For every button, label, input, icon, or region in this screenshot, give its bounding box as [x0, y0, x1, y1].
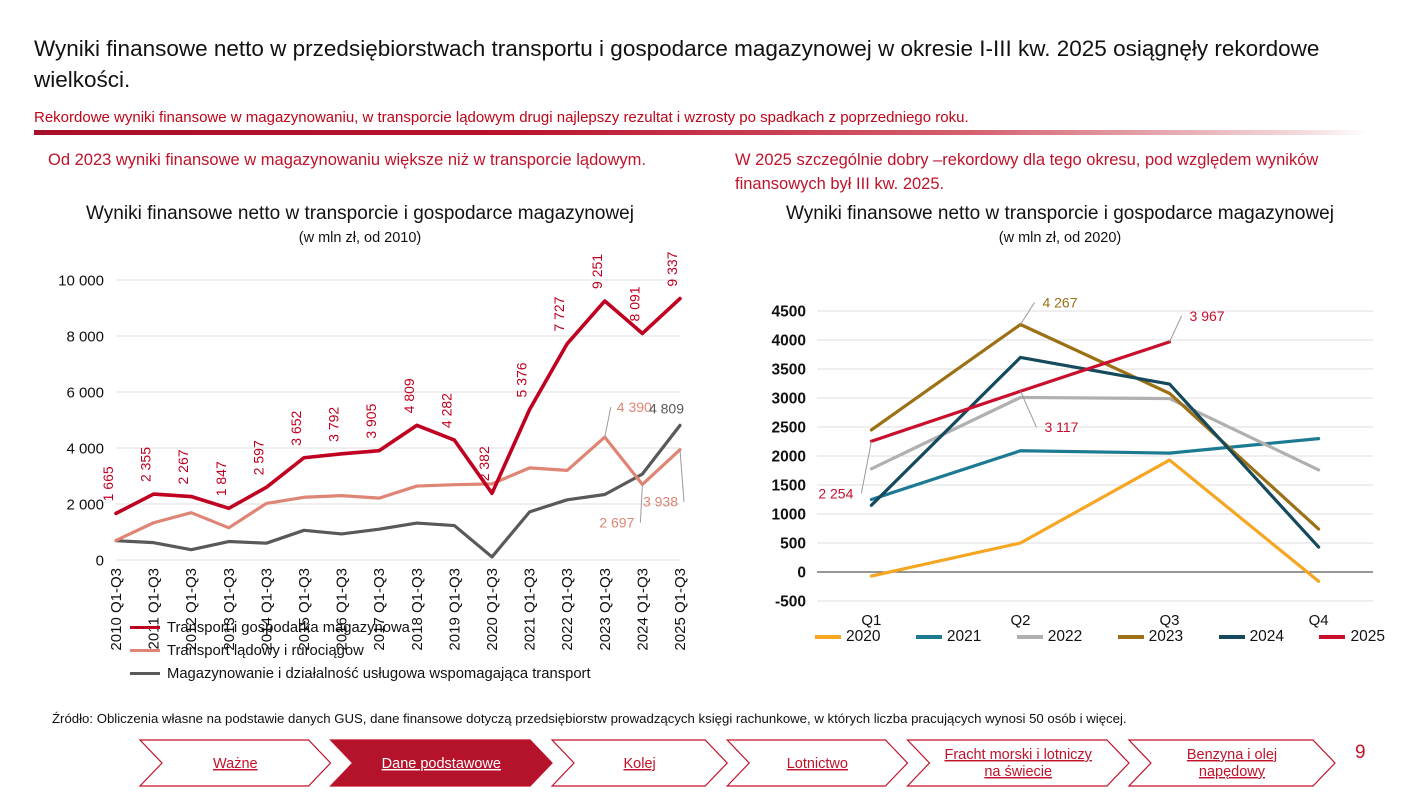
- x-axis-tick-label: Q1: [861, 612, 881, 629]
- legend-swatch: [1118, 635, 1144, 639]
- legend-label: 2023: [1149, 628, 1183, 646]
- chevron-label[interactable]: Lotnictwo: [787, 756, 848, 772]
- right-chart-title-main: Wyniki finansowe netto w transporcie i g…: [786, 203, 1334, 224]
- data-label: 3 792: [326, 407, 342, 442]
- y-axis-tick-label: 8 000: [66, 329, 104, 346]
- legend-label: 2020: [846, 628, 880, 646]
- y-axis-tick-label: 3500: [772, 362, 806, 379]
- source-note: Źródło: Obliczenia własne na podstawie d…: [52, 711, 1392, 726]
- legend-item: 2021: [916, 628, 981, 646]
- legend-item: Transport i gospodarka magazynowa: [130, 616, 591, 639]
- data-label-leader: [605, 407, 611, 437]
- x-axis-tick-label: 2023 Q1-Q3: [597, 568, 614, 651]
- series-line: [871, 397, 1318, 470]
- legend-item: 2020: [815, 628, 880, 646]
- legend-swatch: [130, 672, 160, 675]
- legend-label: Magazynowanie i działalność usługowa wsp…: [167, 666, 591, 682]
- y-axis-tick-label: 0: [96, 553, 104, 570]
- y-axis-tick-label: 3000: [772, 391, 806, 408]
- x-axis-tick-label: Q4: [1309, 612, 1329, 629]
- x-axis-tick-label: Q3: [1160, 612, 1180, 629]
- data-label: 4 809: [649, 400, 684, 416]
- y-axis-tick-label: 4000: [772, 333, 806, 350]
- series-line: [116, 299, 680, 514]
- page-number: 9: [1355, 742, 1366, 764]
- data-label: 3 938: [643, 494, 678, 510]
- y-axis-tick-label: 4 000: [66, 441, 104, 458]
- data-label: 1 665: [100, 466, 116, 501]
- data-label: 2 697: [599, 514, 634, 530]
- legend-label: 2022: [1048, 628, 1082, 646]
- legend-item: 2024: [1219, 628, 1284, 646]
- legend-label: Transport lądowy i rurociągow: [167, 643, 364, 659]
- kicker-text: Rekordowe wyniki finansowe w magazynowan…: [34, 108, 1364, 128]
- y-axis-tick-label: 10 000: [58, 273, 104, 290]
- data-label: 5 376: [514, 362, 530, 397]
- legend-label: Transport i gospodarka magazynowa: [167, 620, 410, 636]
- legend-swatch: [1017, 635, 1043, 639]
- y-axis-tick-label: 4500: [772, 304, 806, 321]
- data-label-leader: [1020, 303, 1034, 325]
- data-label-leader: [680, 450, 684, 502]
- right-chart-legend: 202020212022202320242025: [815, 628, 1385, 646]
- data-label: 4 282: [438, 393, 454, 428]
- legend-swatch: [1219, 635, 1245, 639]
- data-label: 8 091: [626, 286, 642, 321]
- right-line-chart: -500050010001500200025003000350040004500…: [745, 295, 1385, 645]
- legend-item: 2023: [1118, 628, 1183, 646]
- data-label: 7 727: [551, 296, 567, 331]
- legend-item: 2025: [1319, 628, 1384, 646]
- legend-item: 2022: [1017, 628, 1082, 646]
- y-axis-tick-label: 2 000: [66, 497, 104, 514]
- data-label: 3 117: [1044, 419, 1078, 435]
- data-label: 3 905: [363, 403, 379, 438]
- x-axis-tick-label: Q2: [1010, 612, 1030, 629]
- left-chart-subtitle: (w mln zł, od 2010): [60, 227, 660, 249]
- y-axis-tick-label: -500: [775, 594, 806, 611]
- left-chart-title-main: Wyniki finansowe netto w transporcie i g…: [86, 203, 634, 224]
- page-title: Wyniki finansowe netto w przedsiębiorstw…: [34, 33, 1374, 95]
- y-axis-tick-label: 1500: [772, 478, 806, 495]
- kicker-divider: [34, 130, 1369, 135]
- legend-swatch: [815, 635, 841, 639]
- data-label: 9 337: [664, 251, 680, 286]
- slide: Wyniki finansowe netto w przedsiębiorstw…: [0, 0, 1409, 793]
- right-chart-title: Wyniki finansowe netto w transporcie i g…: [760, 200, 1360, 249]
- legend-label: 2025: [1350, 628, 1384, 646]
- data-label: 2 597: [250, 440, 266, 475]
- data-label: 9 251: [589, 254, 605, 289]
- data-label: 4 809: [401, 378, 417, 413]
- data-label: 4 390: [617, 399, 652, 415]
- left-chart-legend: Transport i gospodarka magazynowaTranspo…: [130, 616, 591, 685]
- x-axis-tick-label: 2024 Q1-Q3: [634, 568, 651, 651]
- left-chart-title: Wyniki finansowe netto w transporcie i g…: [60, 200, 660, 249]
- chevron-label[interactable]: Fracht morski i lotniczy: [944, 747, 1092, 763]
- chevron-label[interactable]: Kolej: [624, 756, 656, 772]
- legend-swatch: [1319, 635, 1345, 639]
- x-axis-tick-label: 2010 Q1-Q3: [108, 568, 125, 651]
- data-label: 2 382: [476, 446, 492, 481]
- chevron-label[interactable]: napędowy: [1199, 764, 1266, 780]
- data-label: 4 267: [1042, 295, 1077, 311]
- data-label: 2 267: [175, 449, 191, 484]
- data-label: 3 967: [1190, 308, 1225, 324]
- right-chart-subtitle: (w mln zł, od 2020): [760, 227, 1360, 249]
- y-axis-tick-label: 2000: [772, 449, 806, 466]
- y-axis-tick-label: 500: [780, 536, 806, 553]
- chevron-label[interactable]: na świecie: [984, 764, 1052, 780]
- y-axis-tick-label: 2500: [772, 420, 806, 437]
- legend-swatch: [916, 635, 942, 639]
- data-label: 2 254: [818, 485, 853, 501]
- section-chevron-nav[interactable]: WażneDane podstawoweKolejLotnictwoFracht…: [140, 740, 1335, 786]
- data-label: 2 355: [138, 447, 154, 482]
- legend-swatch: [130, 649, 160, 652]
- chevron-label[interactable]: Dane podstawowe: [382, 756, 501, 772]
- legend-item: Magazynowanie i działalność usługowa wsp…: [130, 662, 591, 685]
- x-axis-tick-label: 2025 Q1-Q3: [672, 568, 689, 651]
- data-label: 1 847: [213, 461, 229, 496]
- left-panel-lead: Od 2023 wyniki finansowe w magazynowaniu…: [48, 148, 688, 172]
- data-label: 3 652: [288, 410, 304, 445]
- legend-label: 2021: [947, 628, 981, 646]
- chevron-label[interactable]: Ważne: [213, 756, 258, 772]
- y-axis-tick-label: 6 000: [66, 385, 104, 402]
- legend-item: Transport lądowy i rurociągow: [130, 639, 591, 662]
- y-axis-tick-label: 1000: [772, 507, 806, 524]
- right-panel-lead: W 2025 szczególnie dobry –rekordowy dla …: [735, 148, 1355, 196]
- legend-swatch: [130, 626, 160, 629]
- y-axis-tick-label: 0: [797, 565, 806, 582]
- legend-label: 2024: [1250, 628, 1284, 646]
- chevron-label[interactable]: Benzyna i olej: [1187, 747, 1277, 763]
- data-label-leader: [1170, 316, 1182, 342]
